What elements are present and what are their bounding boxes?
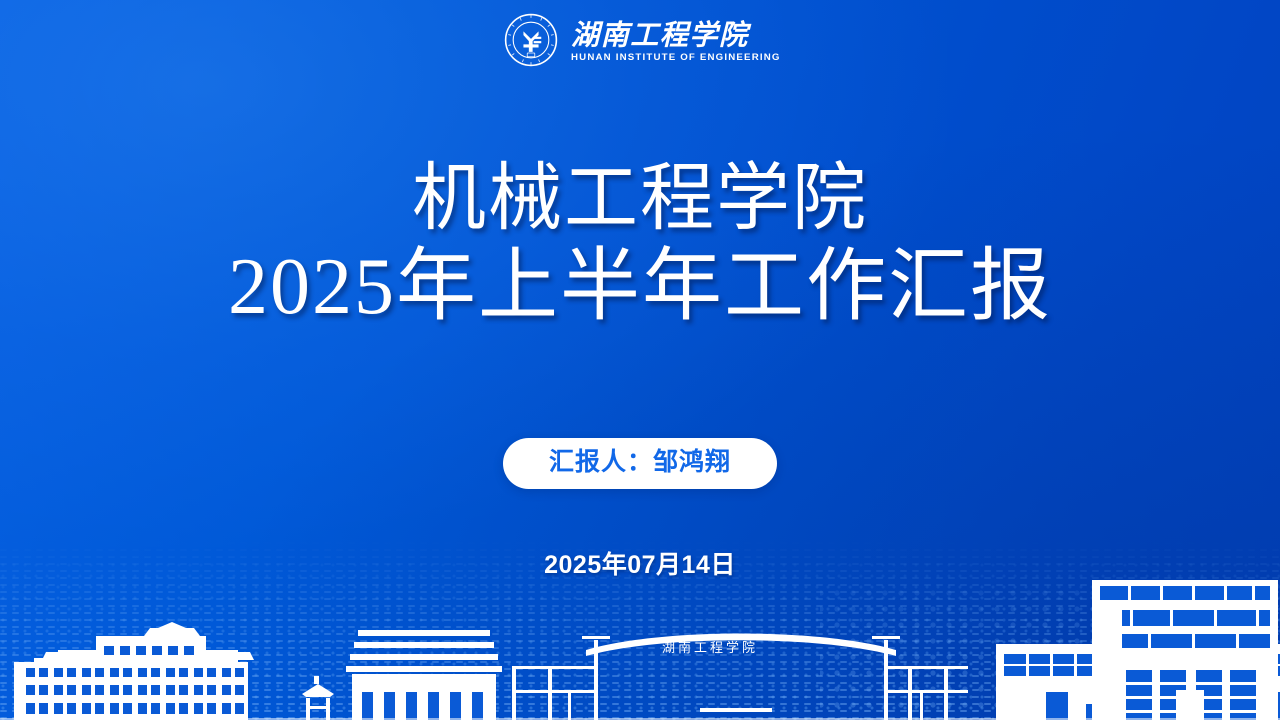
pavilion-icon xyxy=(302,676,334,720)
institution-name-cn: 湖南工程学院 xyxy=(571,18,759,52)
date-wrapper: 2025年07月14日 xyxy=(0,545,1280,581)
building-left-teaching xyxy=(14,622,254,720)
logo-text-group: 湖南工程学院 HUNAN INSTITUTE OF ENGINEERING xyxy=(571,18,777,63)
university-seal-icon xyxy=(504,13,558,67)
library-label: 图书馆 xyxy=(405,678,437,689)
institution-name-en: HUNAN INSTITUTE OF ENGINEERING xyxy=(571,53,781,63)
university-logo: 湖南工程学院 HUNAN INSTITUTE OF ENGINEERING xyxy=(0,13,1280,67)
presentation-slide: 图书馆 xyxy=(0,0,1280,720)
presenter-badge: 汇报人：邹鸿翔 xyxy=(503,438,777,489)
campus-gate-label: 湖南工程学院 xyxy=(662,640,758,655)
title-line-1: 机械工程学院 xyxy=(0,158,1280,242)
presentation-date: 2025年07月14日 xyxy=(544,551,736,579)
slide-title: 机械工程学院 2025年上半年工作汇报 xyxy=(0,158,1280,332)
presenter-badge-wrapper: 汇报人：邹鸿翔 xyxy=(0,438,1280,489)
title-line-2: 2025年上半年工作汇报 xyxy=(0,242,1280,332)
mechanical-building-label: 机械楼 xyxy=(1152,653,1184,664)
svg-text:湖南工程学院: 湖南工程学院 xyxy=(571,19,752,51)
